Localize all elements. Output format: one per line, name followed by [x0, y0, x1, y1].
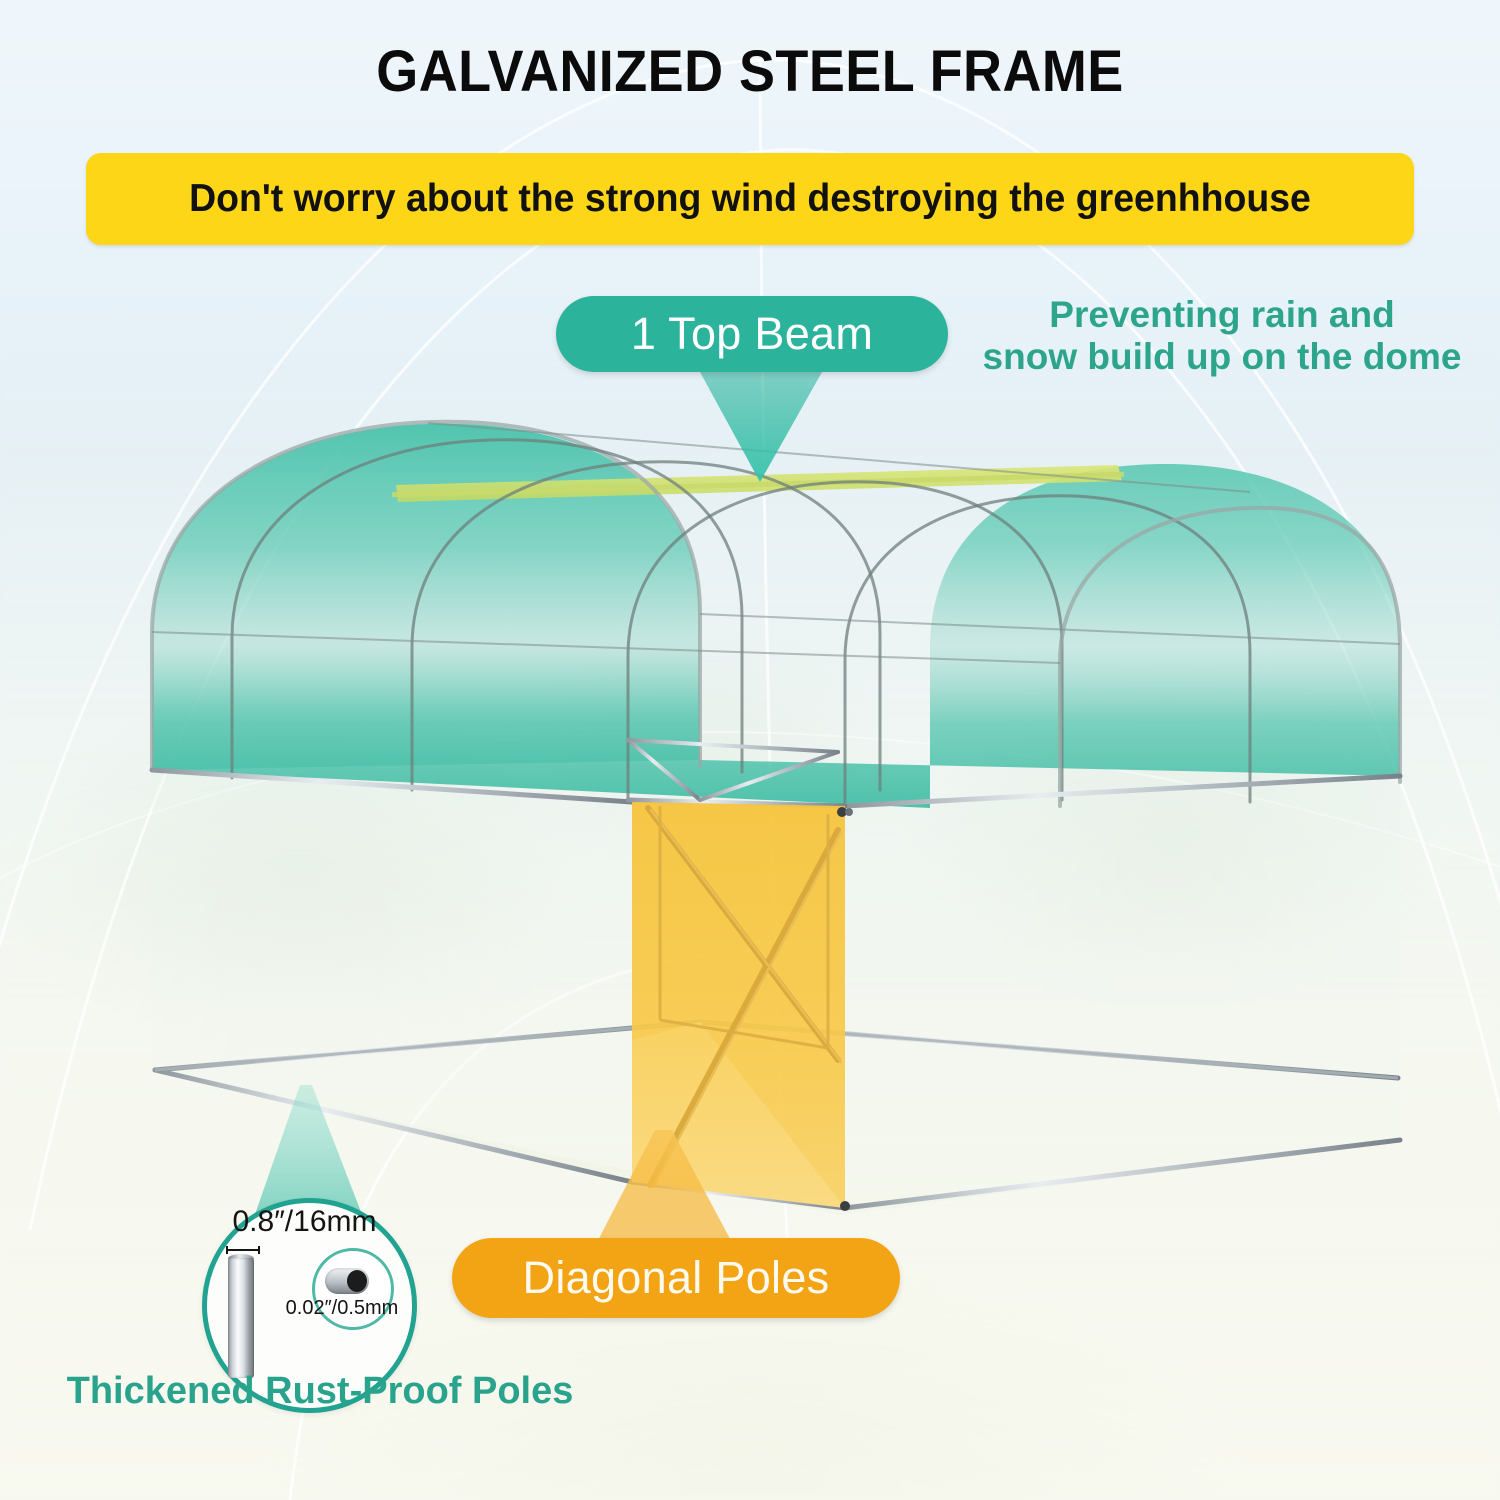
top-beam-note-line2: snow build up on the dome [962, 336, 1482, 378]
steel-pole-illustration [228, 1258, 254, 1378]
rust-proof-caption: Thickened Rust-Proof Poles [60, 1370, 580, 1413]
wall-thickness-label: 0.02″/0.5mm [262, 1297, 422, 1320]
infographic-canvas: GALVANIZED STEEL FRAME Don't worry about… [0, 0, 1500, 1500]
top-beam-note: Preventing rain and snow build up on the… [962, 294, 1482, 378]
diagonal-poles-badge[interactable]: Diagonal Poles [452, 1238, 900, 1318]
page-title: GALVANIZED STEEL FRAME [53, 38, 1448, 105]
diameter-dimension-bar [226, 1246, 260, 1254]
top-beam-note-line1: Preventing rain and [962, 294, 1482, 336]
headline-banner: Don't worry about the strong wind destro… [86, 153, 1414, 245]
top-beam-badge[interactable]: 1 Top Beam [556, 296, 948, 372]
pole-cross-section-icon [325, 1268, 369, 1294]
headline-banner-text: Don't worry about the strong wind destro… [113, 153, 1388, 245]
pole-diameter-label: 0.8″/16mm [202, 1205, 407, 1239]
